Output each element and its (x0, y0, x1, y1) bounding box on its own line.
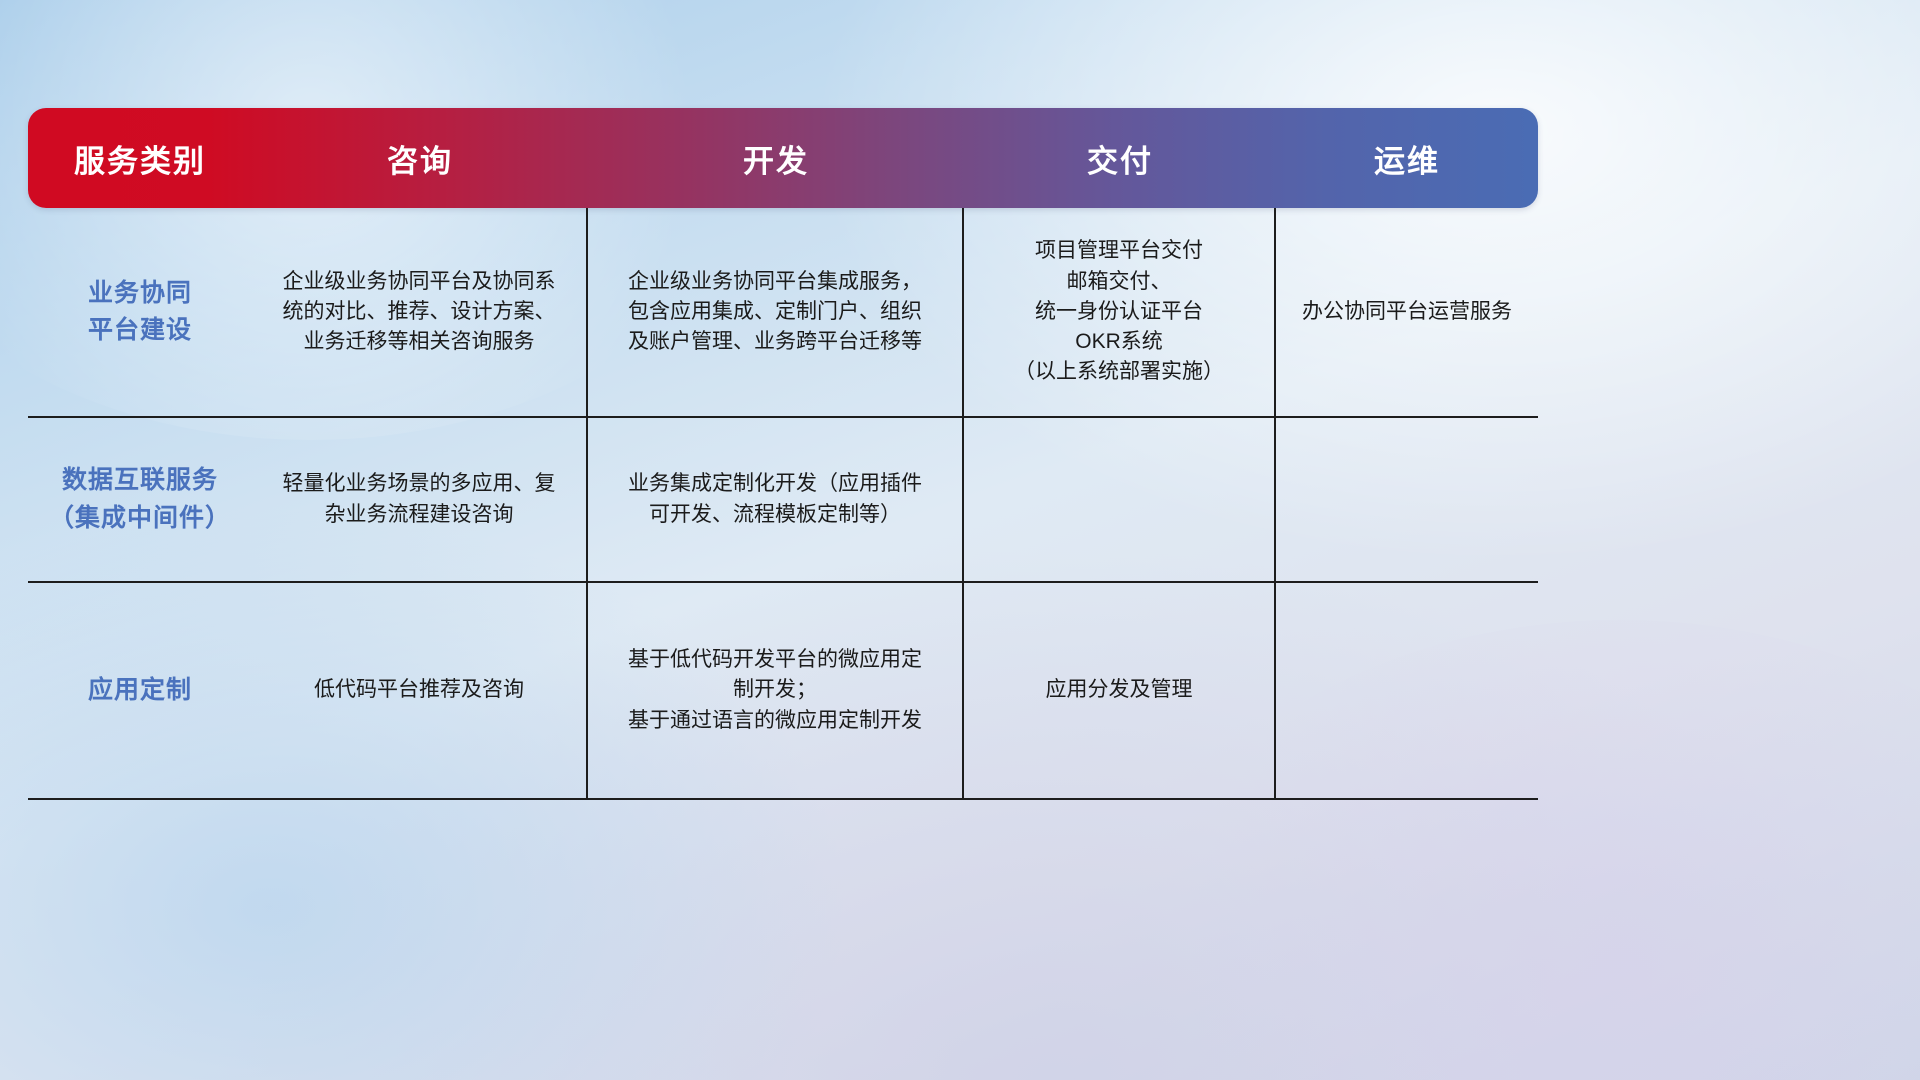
column-header-operations: 运维 (1276, 108, 1538, 208)
column-header-consulting: 咨询 (252, 108, 588, 208)
row-label-data-interconnection: 数据互联服务 （集成中间件） (28, 418, 252, 581)
table-row: 应用定制 低代码平台推荐及咨询 基于低代码开发平台的微应用定 制开发； 基于通过… (28, 583, 1538, 798)
table-body: 业务协同 平台建设 企业级业务协同平台及协同系 统的对比、推荐、设计方案、 业务… (28, 208, 1538, 800)
cell-consulting-row2: 轻量化业务场景的多应用、复 杂业务流程建设咨询 (252, 418, 588, 581)
table-row: 业务协同 平台建设 企业级业务协同平台及协同系 统的对比、推荐、设计方案、 业务… (28, 208, 1538, 418)
cell-operations-row2 (1276, 418, 1538, 581)
cell-development-row3: 基于低代码开发平台的微应用定 制开发； 基于通过语言的微应用定制开发 (588, 583, 964, 798)
service-matrix-table: 服务类别 咨询 开发 交付 运维 业务协同 平台建设 企业级业务协同平台及协同系… (28, 108, 1538, 800)
column-header-development: 开发 (588, 108, 964, 208)
cell-delivery-row2 (964, 418, 1276, 581)
cell-operations-row1: 办公协同平台运营服务 (1276, 208, 1538, 416)
cell-development-row1: 企业级业务协同平台集成服务， 包含应用集成、定制门户、组织 及账户管理、业务跨平… (588, 208, 964, 416)
cell-development-row2: 业务集成定制化开发（应用插件 可开发、流程模板定制等） (588, 418, 964, 581)
table-row: 数据互联服务 （集成中间件） 轻量化业务场景的多应用、复 杂业务流程建设咨询 业… (28, 418, 1538, 583)
cell-operations-row3 (1276, 583, 1538, 798)
table-header-row: 服务类别 咨询 开发 交付 运维 (28, 108, 1538, 208)
cell-consulting-row1: 企业级业务协同平台及协同系 统的对比、推荐、设计方案、 业务迁移等相关咨询服务 (252, 208, 588, 416)
row-label-business-collaboration: 业务协同 平台建设 (28, 208, 252, 416)
column-header-category: 服务类别 (28, 108, 252, 208)
column-header-delivery: 交付 (964, 108, 1276, 208)
cell-consulting-row3: 低代码平台推荐及咨询 (252, 583, 588, 798)
row-label-application-customization: 应用定制 (28, 583, 252, 798)
cell-delivery-row1: 项目管理平台交付 邮箱交付、 统一身份认证平台 OKR系统 （以上系统部署实施） (964, 208, 1276, 416)
cell-delivery-row3: 应用分发及管理 (964, 583, 1276, 798)
